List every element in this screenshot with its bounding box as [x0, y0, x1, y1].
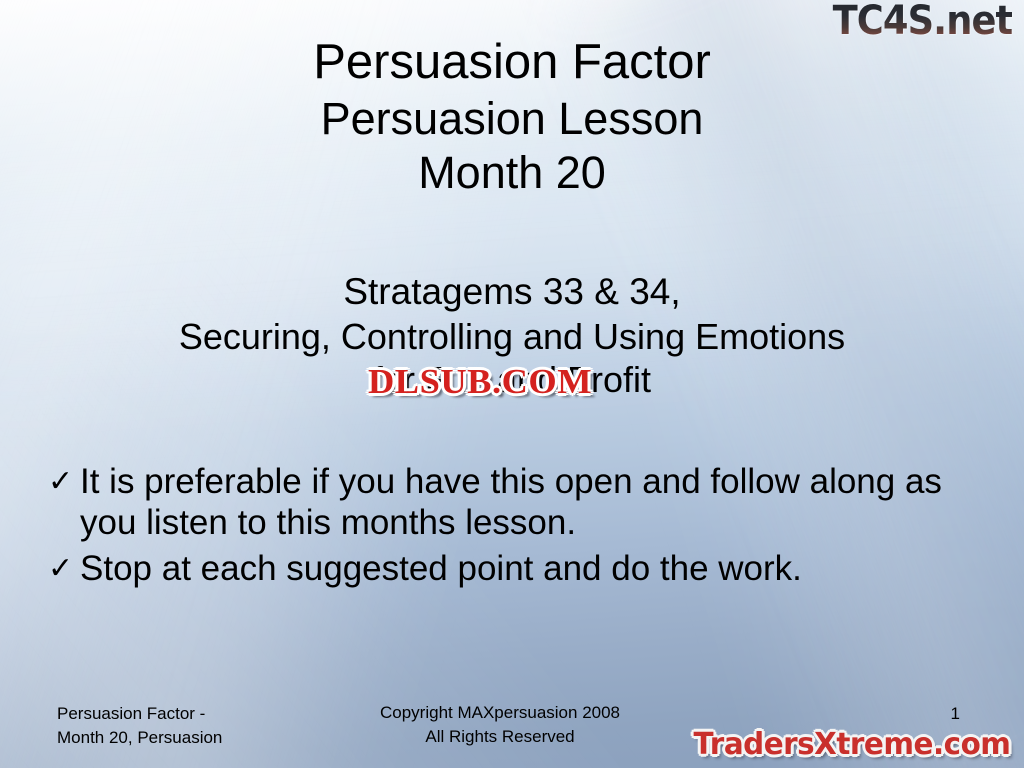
bullet-list: ✓ It is preferable if you have this open…: [48, 462, 960, 596]
checkmark-icon: ✓: [48, 549, 80, 587]
presentation-slide: Persuasion Factor Persuasion Lesson Mont…: [0, 0, 1024, 768]
list-item: ✓ It is preferable if you have this open…: [48, 462, 960, 543]
title-line-1: Persuasion Factor: [0, 38, 1024, 88]
footer-copyright-line-1: Copyright MAXpersuasion 2008: [380, 701, 620, 724]
bullet-text: Stop at each suggested point and do the …: [80, 549, 960, 590]
watermark-dlsub: DLSUB.COM: [368, 362, 592, 402]
footer-copyright-line-2: All Rights Reserved: [380, 725, 620, 748]
title-line-3: Month 20: [0, 150, 1024, 196]
slide-title: Persuasion Factor Persuasion Lesson Mont…: [0, 38, 1024, 196]
checkmark-icon: ✓: [48, 462, 80, 500]
title-line-2: Persuasion Lesson: [0, 96, 1024, 142]
bullet-text: It is preferable if you have this open a…: [80, 462, 960, 543]
page-number: 1: [951, 704, 960, 724]
watermark-tc4s: TC4S.net: [832, 0, 1012, 44]
subtitle-line-1: Stratagems 33 & 34,: [0, 272, 1024, 313]
subtitle-line-2: Securing, Controlling and Using Emotions: [0, 317, 1024, 357]
watermark-tradersxtreme: TradersXtreme.com: [693, 727, 1010, 762]
list-item: ✓ Stop at each suggested point and do th…: [48, 549, 960, 590]
